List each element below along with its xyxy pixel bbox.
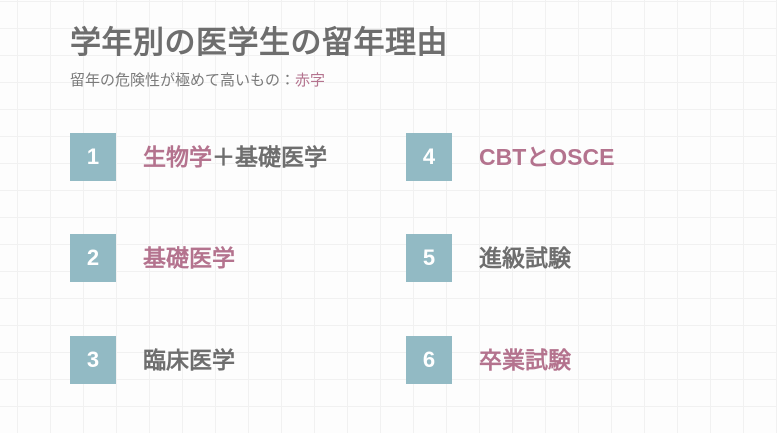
reason-label: 進級試験	[479, 247, 571, 270]
slide-canvas: 学年別の医学生の留年理由 留年の危険性が極めて高いもの：赤字 1生物学＋基礎医学…	[0, 0, 777, 433]
page-subtitle: 留年の危険性が極めて高いもの：赤字	[70, 71, 448, 91]
reason-item-2: 2基礎医学	[70, 234, 235, 282]
reason-number-badge: 4	[406, 133, 452, 181]
reason-text-normal: 進級試験	[479, 245, 571, 271]
reason-label: 生物学＋基礎医学	[143, 146, 327, 169]
reason-number-badge: 6	[406, 336, 452, 384]
reason-text-highlight: 卒業試験	[479, 347, 571, 373]
reason-number-badge: 2	[70, 234, 116, 282]
reason-text-highlight: 生物学	[143, 144, 212, 170]
reason-label: CBTとOSCE	[479, 146, 614, 169]
reason-text-normal: ＋基礎医学	[212, 144, 327, 170]
page-title: 学年別の医学生の留年理由	[70, 24, 448, 63]
reason-text-highlight: CBTとOSCE	[479, 144, 614, 170]
reason-text-highlight: 基礎医学	[143, 245, 235, 271]
page-subtitle-highlight: 赤字	[295, 72, 325, 89]
page-subtitle-prefix: 留年の危険性が極めて高いもの：	[70, 72, 295, 89]
reason-item-6: 6卒業試験	[406, 336, 571, 384]
reason-item-1: 1生物学＋基礎医学	[70, 133, 327, 181]
reason-item-4: 4CBTとOSCE	[406, 133, 614, 181]
reason-item-5: 5進級試験	[406, 234, 571, 282]
reason-number-badge: 1	[70, 133, 116, 181]
reason-label: 基礎医学	[143, 247, 235, 270]
reason-number-badge: 3	[70, 336, 116, 384]
reason-label: 卒業試験	[479, 349, 571, 372]
reason-number-badge: 5	[406, 234, 452, 282]
reason-item-3: 3臨床医学	[70, 336, 235, 384]
reason-label: 臨床医学	[143, 349, 235, 372]
slide-header: 学年別の医学生の留年理由 留年の危険性が極めて高いもの：赤字	[70, 24, 448, 90]
reason-text-normal: 臨床医学	[143, 347, 235, 373]
